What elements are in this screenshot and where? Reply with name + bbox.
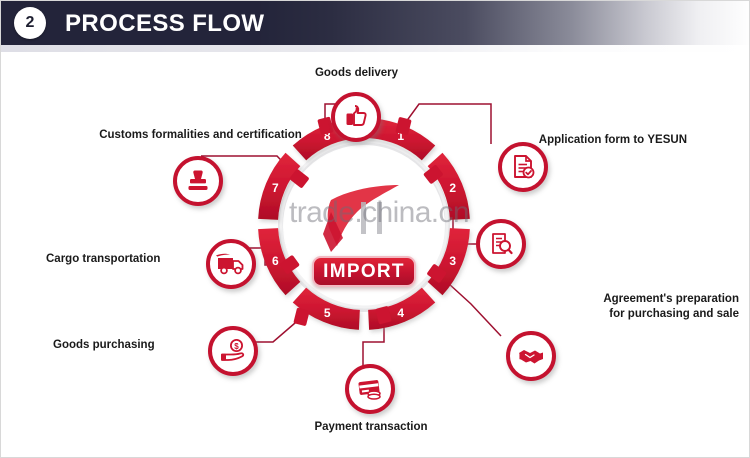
import-button[interactable]: IMPORT — [312, 256, 416, 287]
label-payment-transaction: Payment transaction — [296, 420, 446, 435]
label-goods-purchasing: Goods purchasing — [53, 338, 198, 353]
header-shadow — [1, 45, 750, 52]
node-cargo-transportation[interactable] — [206, 239, 256, 289]
node-agreement-preparation[interactable] — [506, 331, 556, 381]
delivery-truck-icon — [215, 249, 247, 279]
label-goods-delivery: Goods delivery — [284, 66, 429, 81]
process-flow-slide: 2 PROCESS FLOW — [0, 0, 750, 458]
process-flow-diagram: 12345678 trade.china.cn — [1, 52, 750, 458]
label-cargo-transportation: Cargo transportation — [46, 252, 196, 267]
ring-number-7: 7 — [272, 181, 279, 195]
label-agreement-preparation: Agreement's preparation for purchasing a… — [514, 292, 739, 321]
ring-number-5: 5 — [324, 306, 331, 320]
page-title: PROCESS FLOW — [65, 10, 264, 38]
handshake-icon — [516, 341, 546, 371]
credit-card-coins-icon — [355, 374, 385, 404]
node-document-review[interactable] — [476, 219, 526, 269]
ring-number-4: 4 — [397, 306, 404, 320]
svg-text:$: $ — [234, 342, 239, 351]
label-application-form-plain: Application form to — [539, 134, 648, 146]
ring-number-6: 6 — [272, 254, 279, 268]
node-goods-delivery[interactable] — [331, 92, 381, 142]
ring-number-3: 3 — [449, 254, 456, 268]
import-button-label: IMPORT — [323, 261, 405, 283]
rubber-stamp-icon — [183, 166, 213, 196]
node-customs-formalities[interactable] — [173, 156, 223, 206]
document-check-icon — [508, 152, 538, 182]
node-application-form[interactable] — [498, 142, 548, 192]
label-application-form-brand: YESUN — [647, 134, 687, 146]
label-application-form: Application form to YESUN — [472, 118, 687, 147]
label-customs-formalities: Customs formalities and certification — [93, 128, 308, 143]
node-payment-transaction[interactable] — [345, 364, 395, 414]
document-search-icon — [486, 229, 516, 259]
hand-coin-icon: $ — [218, 336, 248, 366]
node-goods-purchasing[interactable]: $ — [208, 326, 258, 376]
ring-number-2: 2 — [449, 181, 456, 195]
thumbs-up-icon — [341, 102, 371, 132]
section-number-badge: 2 — [14, 7, 46, 39]
